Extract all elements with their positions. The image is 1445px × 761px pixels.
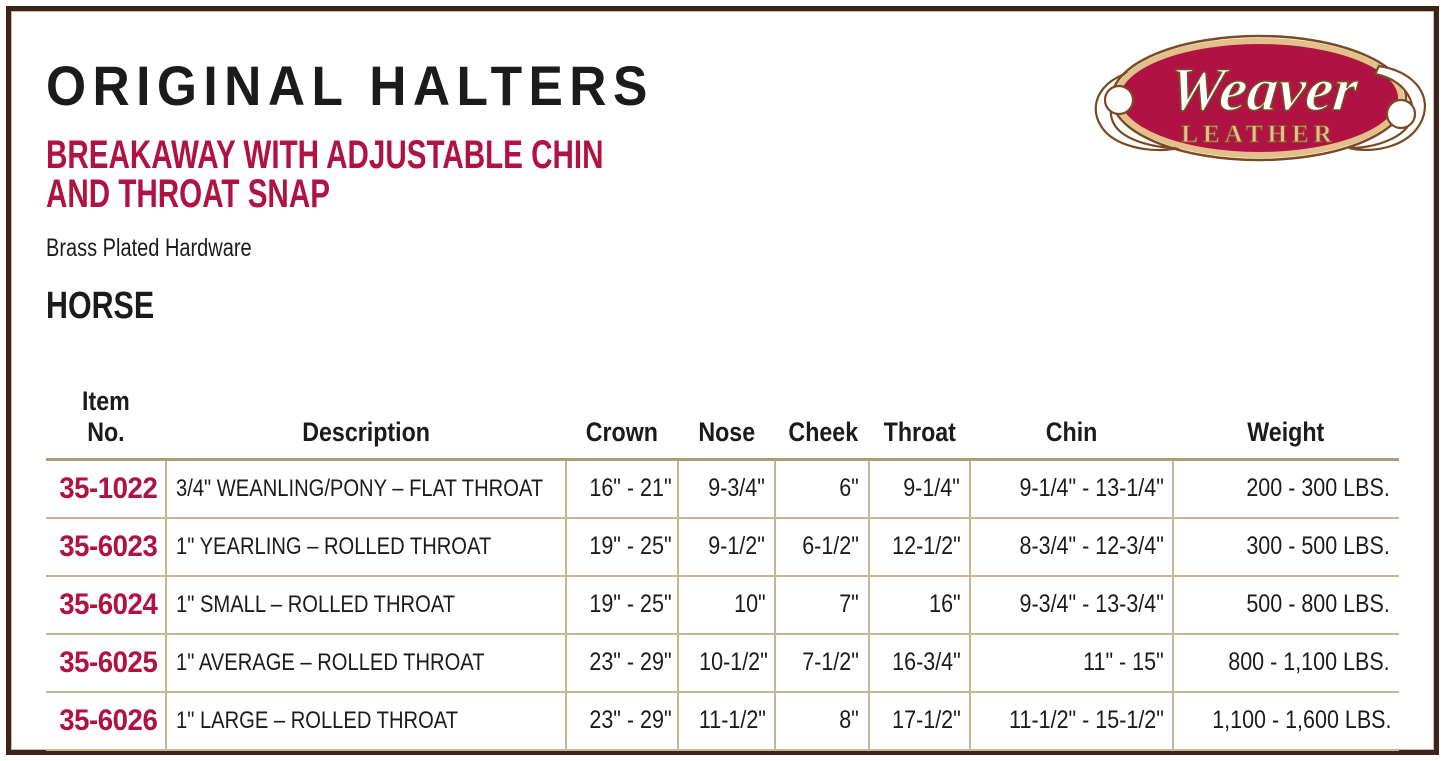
logo-wordmark: Weaver [1166, 56, 1362, 124]
spec-table-body: 35-1022 3/4" WEANLING/PONY – FLAT THROAT… [46, 460, 1399, 750]
col-header-nose: Nose [685, 386, 769, 460]
cell-chin: 9-1/4" - 13-1/4" [970, 460, 1173, 518]
spec-table-wrap: Item No. Description Crown Nose Cheek Th… [46, 386, 1399, 751]
cell-throat: 12-1/2" [869, 518, 971, 576]
col-header-description: Description [194, 386, 538, 460]
col-header-item-no: Item No. [54, 386, 157, 460]
cell-description: 1" SMALL – ROLLED THROAT [166, 576, 566, 634]
cell-cheek: 7-1/2" [775, 634, 868, 692]
cell-crown: 16" - 21" [566, 460, 678, 518]
cell-cheek: 6" [775, 460, 868, 518]
cell-weight: 200 - 300 LBS. [1173, 460, 1399, 518]
cell-chin: 11" - 15" [970, 634, 1173, 692]
card-content: ORIGINAL HALTERS BREAKAWAY WITH ADJUSTAB… [0, 0, 1445, 761]
logo-subwordmark: LEATHER [1181, 121, 1336, 148]
spec-table-head: Item No. Description Crown Nose Cheek Th… [46, 386, 1399, 460]
cell-description: 1" LARGE – ROLLED THROAT [166, 692, 566, 750]
col-header-crown: Crown [574, 386, 670, 460]
cell-weight: 800 - 1,100 LBS. [1173, 634, 1399, 692]
section-label-horse: HORSE [46, 261, 1445, 325]
cell-description: 3/4" WEANLING/PONY – FLAT THROAT [166, 460, 566, 518]
cell-crown: 19" - 25" [566, 518, 678, 576]
cell-cheek: 7" [775, 576, 868, 634]
cell-crown: 23" - 29" [566, 692, 678, 750]
cell-weight: 500 - 800 LBS. [1173, 576, 1399, 634]
col-header-weight: Weight [1189, 386, 1383, 460]
cell-weight: 300 - 500 LBS. [1173, 518, 1399, 576]
header-row: Item No. Description Crown Nose Cheek Th… [46, 386, 1399, 460]
cell-description: 1" AVERAGE – ROLLED THROAT [166, 634, 566, 692]
logo-left-curl [1105, 86, 1133, 114]
logo-svg: Weaver LEATHER [1083, 18, 1433, 178]
logo-right-curl [1387, 100, 1415, 128]
cell-crown: 23" - 29" [566, 634, 678, 692]
table-row: 35-6026 1" LARGE – ROLLED THROAT 23" - 2… [46, 692, 1399, 750]
cell-item-no: 35-6024 [46, 576, 166, 634]
table-row: 35-1022 3/4" WEANLING/PONY – FLAT THROAT… [46, 460, 1399, 518]
cell-crown: 19" - 25" [566, 576, 678, 634]
col-header-cheek: Cheek [782, 386, 862, 460]
cell-item-no: 35-1022 [46, 460, 166, 518]
cell-throat: 17-1/2" [869, 692, 971, 750]
cell-throat: 9-1/4" [869, 460, 971, 518]
table-row: 35-6025 1" AVERAGE – ROLLED THROAT 23" -… [46, 634, 1399, 692]
table-row: 35-6024 1" SMALL – ROLLED THROAT 19" - 2… [46, 576, 1399, 634]
cell-nose: 10" [678, 576, 776, 634]
cell-cheek: 8" [775, 692, 868, 750]
cell-description: 1" YEARLING – ROLLED THROAT [166, 518, 566, 576]
cell-chin: 9-3/4" - 13-3/4" [970, 576, 1173, 634]
halter-spec-card: ORIGINAL HALTERS BREAKAWAY WITH ADJUSTAB… [0, 0, 1445, 761]
cell-nose: 11-1/2" [678, 692, 776, 750]
cell-chin: 11-1/2" - 15-1/2" [970, 692, 1173, 750]
cell-cheek: 6-1/2" [775, 518, 868, 576]
spec-table: Item No. Description Crown Nose Cheek Th… [46, 386, 1399, 751]
weaver-leather-logo: Weaver LEATHER [1083, 18, 1433, 178]
cell-nose: 10-1/2" [678, 634, 776, 692]
cell-throat: 16" [869, 576, 971, 634]
cell-item-no: 35-6025 [46, 634, 166, 692]
cell-item-no: 35-6023 [46, 518, 166, 576]
cell-chin: 8-3/4" - 12-3/4" [970, 518, 1173, 576]
cell-throat: 16-3/4" [869, 634, 971, 692]
col-header-chin: Chin [985, 386, 1160, 460]
cell-item-no: 35-6026 [46, 692, 166, 750]
cell-nose: 9-1/2" [678, 518, 776, 576]
table-row: 35-6023 1" YEARLING – ROLLED THROAT 19" … [46, 518, 1399, 576]
cell-weight: 1,100 - 1,600 LBS. [1173, 692, 1399, 750]
col-header-throat: Throat [876, 386, 963, 460]
hardware-note: Brass Plated Hardware [46, 214, 1445, 261]
cell-nose: 9-3/4" [678, 460, 776, 518]
